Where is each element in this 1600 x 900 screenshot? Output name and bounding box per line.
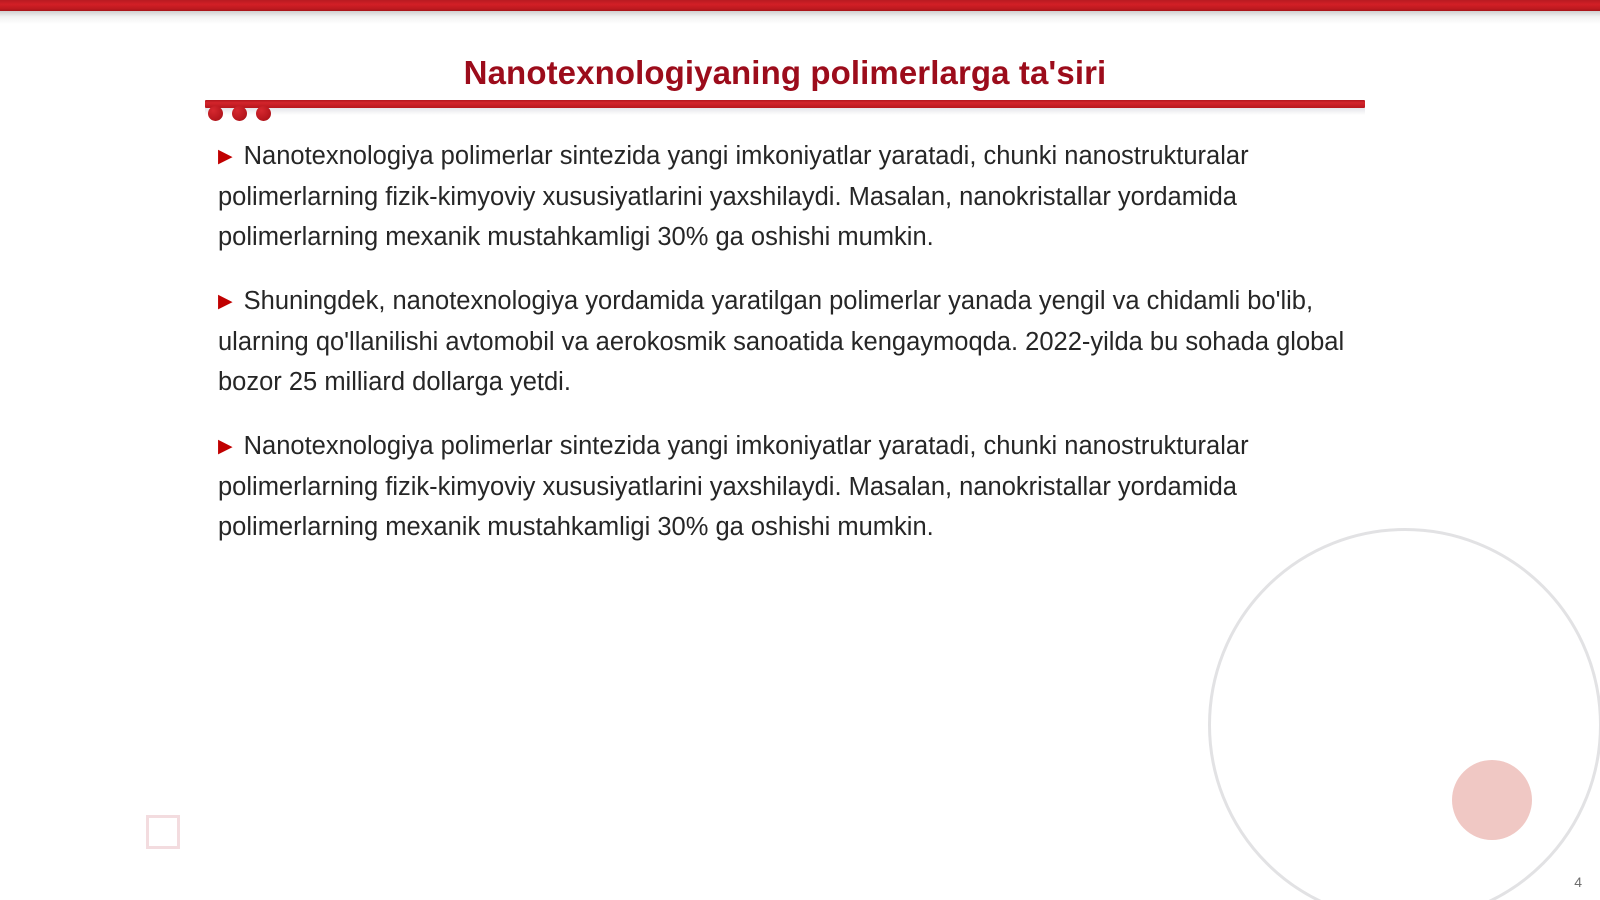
slide-body: ▶Nanotexnologiya polimerlar sintezida ya… bbox=[218, 136, 1358, 547]
bullet-paragraph-1: ▶Nanotexnologiya polimerlar sintezida ya… bbox=[218, 136, 1358, 257]
top-red-banner bbox=[0, 0, 1600, 11]
decorative-pink-square-shape bbox=[146, 815, 180, 849]
bullet-paragraph-1-text: Nanotexnologiya polimerlar sintezida yan… bbox=[218, 142, 1249, 251]
title-rule-line bbox=[205, 100, 1365, 108]
decorative-pink-dot-shape bbox=[1452, 760, 1532, 840]
rule-dot-icon-3 bbox=[256, 106, 271, 121]
title-underline-rule bbox=[205, 100, 1365, 126]
triangle-right-bullet-icon: ▶ bbox=[218, 282, 233, 322]
rule-dot-icon-2 bbox=[232, 106, 247, 121]
slide-title: Nanotexnologiyaning polimerlarga ta'siri bbox=[210, 54, 1360, 92]
bullet-paragraph-3-text: Nanotexnologiya polimerlar sintezida yan… bbox=[218, 432, 1249, 541]
top-banner-shadow bbox=[0, 11, 1600, 24]
bullet-paragraph-2-text: Shuningdek, nanotexnologiya yordamida ya… bbox=[218, 287, 1344, 396]
decorative-ring-shape bbox=[1208, 528, 1600, 900]
triangle-right-bullet-icon: ▶ bbox=[218, 427, 233, 467]
triangle-right-bullet-icon: ▶ bbox=[218, 137, 233, 177]
bullet-paragraph-3: ▶Nanotexnologiya polimerlar sintezida ya… bbox=[218, 426, 1358, 547]
slide-canvas: Nanotexnologiyaning polimerlarga ta'siri… bbox=[0, 0, 1600, 900]
bullet-paragraph-2: ▶Shuningdek, nanotexnologiya yordamida y… bbox=[218, 281, 1358, 402]
rule-dot-icon-1 bbox=[208, 106, 223, 121]
slide-page-number: 4 bbox=[1574, 874, 1582, 890]
title-rule-shadow bbox=[205, 108, 1365, 115]
